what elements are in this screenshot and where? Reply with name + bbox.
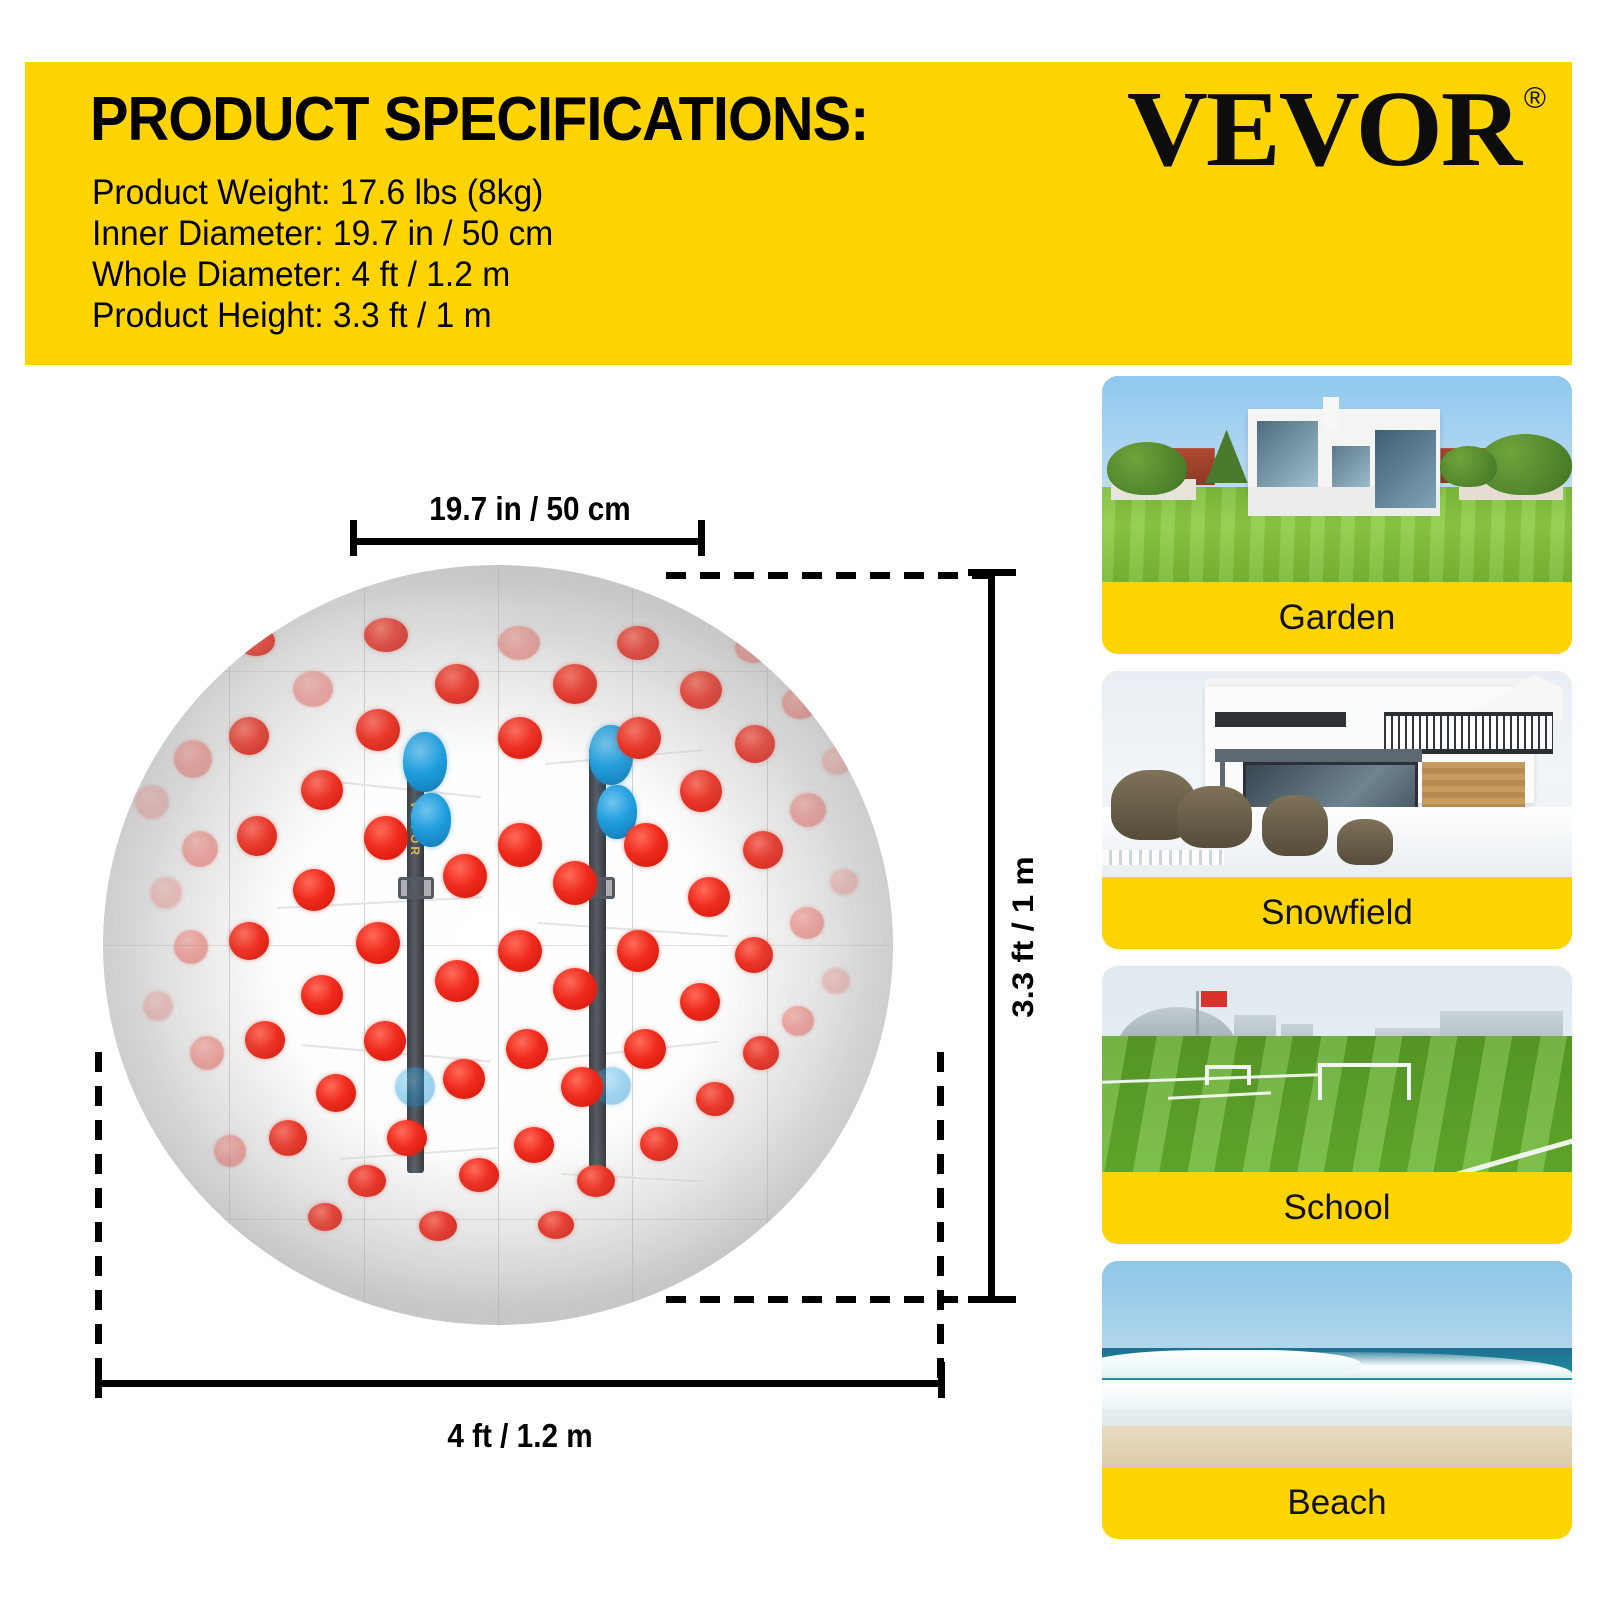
scene-caption-snowfield: Snowfield: [1102, 877, 1572, 949]
scene-card-garden[interactable]: Garden: [1102, 376, 1572, 654]
scene-label-beach: Beach: [1287, 1483, 1386, 1523]
spec-whole-diameter: Whole Diameter: 4 ft / 1.2 m: [92, 254, 553, 295]
strap-brand-label-left: VEVOR: [408, 801, 422, 858]
shoulder-strap-right: [589, 747, 606, 1180]
scene-card-snowfield[interactable]: Snowfield: [1102, 671, 1572, 949]
inner-diameter-dimension-label: 19.7 in / 50 cm: [429, 490, 630, 528]
scene-caption-school: School: [1102, 1172, 1572, 1244]
application-scenes-list: Garden Snowfield: [1102, 376, 1572, 1556]
inner-diameter-right-cap: [698, 520, 705, 556]
scene-label-school: School: [1283, 1188, 1390, 1228]
right-dashed-drop: [937, 1052, 944, 1382]
scene-caption-beach: Beach: [1102, 1467, 1572, 1539]
width-dimension-label: 4 ft / 1.2 m: [447, 1417, 592, 1455]
specification-list: Product Weight: 17.6 lbs (8kg) Inner Dia…: [92, 172, 573, 336]
snowfield-photo: [1102, 671, 1572, 877]
strap-buckle-right: [579, 877, 615, 899]
width-right-cap: [938, 1362, 945, 1398]
beach-photo: [1102, 1261, 1572, 1467]
garden-photo: [1102, 376, 1572, 582]
spec-product-height: Product Height: 3.3 ft / 1 m: [92, 295, 553, 336]
registered-trademark-icon: ®: [1524, 84, 1546, 114]
page-title: PRODUCT SPECIFICATIONS:: [90, 84, 868, 155]
scene-label-garden: Garden: [1279, 598, 1396, 638]
strap-buckle-left: [398, 877, 434, 899]
spec-product-weight: Product Weight: 17.6 lbs (8kg): [92, 172, 553, 213]
scene-card-school[interactable]: School: [1102, 966, 1572, 1244]
bubble-ball-product-image: VEVOR: [103, 565, 893, 1325]
inner-diameter-left-cap: [350, 520, 357, 556]
specifications-header: PRODUCT SPECIFICATIONS: Product Weight: …: [25, 62, 1572, 365]
product-dimension-diagram: 19.7 in / 50 cm 3.3 ft / 1 m 4 ft / 1.2 …: [0, 380, 1060, 1560]
shoulder-strap-left: VEVOR: [407, 755, 424, 1173]
soccer-goal-icon: [1318, 1063, 1411, 1100]
spec-inner-diameter: Inner Diameter: 19.7 in / 50 cm: [92, 213, 553, 254]
width-left-cap: [95, 1362, 102, 1398]
scene-card-beach[interactable]: Beach: [1102, 1261, 1572, 1539]
left-dashed-drop: [95, 1052, 102, 1382]
vevor-wordmark: VEVOR: [1127, 76, 1520, 184]
width-dimension-line: [95, 1380, 945, 1387]
school-photo: [1102, 966, 1572, 1172]
height-dimension-label: 3.3 ft / 1 m: [1006, 856, 1040, 1017]
bubble-ball-body: VEVOR: [103, 565, 893, 1325]
scene-label-snowfield: Snowfield: [1261, 893, 1413, 933]
scene-caption-garden: Garden: [1102, 582, 1572, 654]
vevor-logo: VEVOR ®: [1142, 76, 1546, 186]
inner-diameter-dimension-line: [350, 538, 705, 545]
height-dimension-line: [988, 572, 995, 1302]
